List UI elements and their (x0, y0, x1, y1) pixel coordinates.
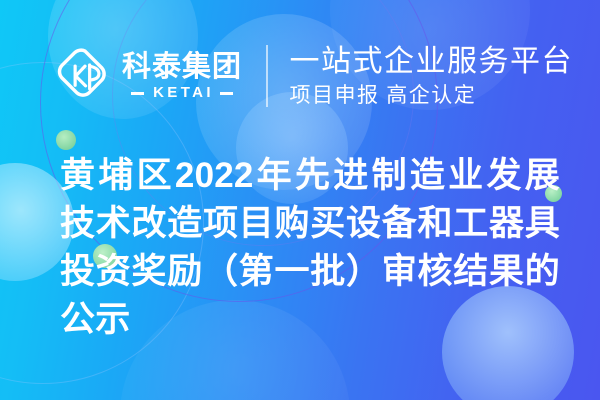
promo-banner: 科泰集团 KETAI 一站式企业服务平台 项目申报 高企认定 黄埔区2022年先… (0, 0, 600, 400)
logo-company-name-en: KETAI (144, 85, 220, 101)
title-block: 黄埔区2022年先进制造业发展技术改造项目购买设备和工器具投资奖励（第一批）审核… (60, 152, 560, 344)
logo-wordmark: 科泰集团 KETAI (122, 51, 242, 101)
decor-dot-green-left (56, 130, 76, 150)
logo-rule-right (220, 92, 233, 95)
page-title: 黄埔区2022年先进制造业发展技术改造项目购买设备和工器具投资奖励（第一批）审核… (60, 152, 560, 344)
slogan-primary: 一站式企业服务平台 (290, 45, 574, 79)
logo-english-row: KETAI (122, 85, 242, 101)
logo-rule-left (131, 92, 144, 95)
slogan-block: 一站式企业服务平台 项目申报 高企认定 (290, 45, 574, 108)
slogan-secondary: 项目申报 高企认定 (290, 82, 574, 108)
header-vertical-divider (266, 45, 268, 107)
banner-header: 科泰集团 KETAI 一站式企业服务平台 项目申报 高企认定 (0, 38, 600, 114)
ketai-logo-icon (56, 47, 114, 105)
logo-company-name-cn: 科泰集团 (122, 51, 242, 83)
